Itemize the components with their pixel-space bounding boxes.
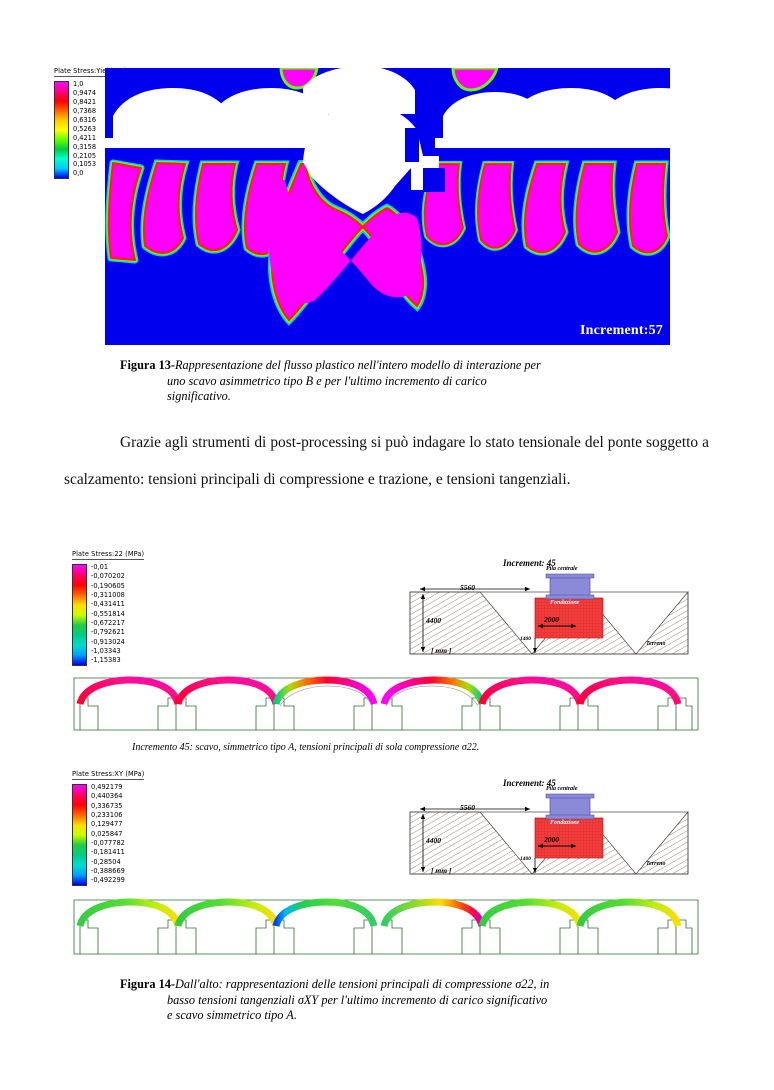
legend-tick: 0,440364 — [91, 793, 125, 800]
figure14-top-legend-labels: -0,01-0,070202-0,190605-0,311008-0,43141… — [91, 564, 125, 664]
figure14-top-legend-title: Plate Stress:22 (MPa) — [72, 550, 144, 560]
legend-tick: -0,551814 — [91, 611, 125, 618]
inset-foundation-label-top: Fondazione — [550, 600, 579, 606]
legend-tick: 0,336735 — [91, 803, 125, 810]
legend-tick: 0,1053 — [73, 161, 96, 168]
figure14-caption-line3: e scavo simmetrico tipo A. — [120, 1008, 680, 1024]
figure14-bottom-legend-title: Plate Stress:XY (MPa) — [72, 770, 144, 780]
figure13-legend-labels: 1,00,94740,84210,73680,63160,52630,42110… — [73, 81, 96, 177]
legend-tick: 0,025847 — [91, 831, 125, 838]
figure14-caption-line2: basso tensioni tangenziali σXY per l'ult… — [120, 993, 680, 1009]
figure13-colorbar — [54, 81, 69, 179]
inset-foundation-label-bottom: Fondazione — [550, 820, 579, 826]
legend-tick: 0,492179 — [91, 784, 125, 791]
figure13-fem-svg — [105, 68, 670, 345]
legend-tick: -1,15383 — [91, 657, 125, 664]
figure14-caption: Figura 14-Dall'alto: rappresentazioni de… — [120, 977, 680, 1024]
legend-tick: -0,672217 — [91, 620, 125, 627]
legend-tick: 0,7368 — [73, 108, 96, 115]
figure14-bottom-legend-labels: 0,4921790,4403640,3367350,2331060,129477… — [91, 784, 125, 884]
figure13-caption-line1: Rappresentazione del flusso plastico nel… — [175, 358, 541, 372]
legend-tick: -0,077782 — [91, 840, 125, 847]
legend-tick: 0,8421 — [73, 99, 96, 106]
legend-tick: 0,9474 — [73, 90, 96, 97]
legend-tick: 0,5263 — [73, 126, 96, 133]
figure13-caption-line3: significativo. — [120, 389, 680, 405]
legend-tick: 0,4211 — [73, 135, 96, 142]
inset-pier-label-top: Pila centrale — [546, 566, 578, 572]
figure13-caption-line2: uno scavo asimmetrico tipo B e per l'ult… — [120, 374, 680, 390]
legend-tick: 0,3158 — [73, 144, 96, 151]
legend-tick: -0,311008 — [91, 592, 125, 599]
legend-tick: 0,129477 — [91, 821, 125, 828]
legend-tick: -0,792621 — [91, 629, 125, 636]
legend-tick: -1,03343 — [91, 648, 125, 655]
figure14-bottom-legend: Plate Stress:XY (MPa) 0,4921790,4403640,… — [72, 763, 144, 886]
document-page: Plate Stress:Yield Index 1,00,94740,8421… — [0, 0, 774, 1090]
legend-tick: -0,28504 — [91, 859, 125, 866]
legend-tick: -0,913024 — [91, 639, 125, 646]
figure13-caption: Figura 13-Rappresentazione del flusso pl… — [120, 358, 680, 405]
inset-dim-2000-top: 2000 — [544, 615, 559, 624]
inset-dim-1400-bottom: 1400 — [520, 856, 531, 862]
legend-tick: 0,2105 — [73, 153, 96, 160]
inset-dim-2000-bottom: 2000 — [544, 835, 559, 844]
body-paragraph: Grazie agli strumenti di post-processing… — [64, 424, 709, 498]
legend-tick: -0,431411 — [91, 601, 125, 608]
inset-dim-4400-bottom: 4400 — [426, 836, 441, 845]
legend-tick: -0,190605 — [91, 583, 125, 590]
figure13-fem-plot: Increment:57 — [105, 68, 670, 345]
inset-dim-5560-bottom: 5560 — [460, 803, 475, 812]
figure14-bottom-bridge — [66, 892, 706, 958]
figure14-bottom-colorbar — [72, 784, 87, 886]
figure14-top-inset: Increment: 45 — [398, 558, 698, 663]
increment-label: Increment:57 — [580, 323, 663, 339]
inset-dim-5560-top: 5560 — [460, 583, 475, 592]
figure14-bottom-inset: Increment: 45 — [398, 778, 698, 883]
figure14-top-subcaption: Incremento 45: scavo, simmetrico tipo A,… — [132, 742, 479, 753]
figure14-top-bridge — [66, 672, 706, 734]
inset-pier-label-bottom: Pila centrale — [546, 786, 578, 792]
legend-tick: 0,0 — [73, 170, 96, 177]
legend-tick: -0,181411 — [91, 849, 125, 856]
legend-tick: -0,388669 — [91, 868, 125, 875]
figure14-top-colorbar — [72, 564, 87, 666]
figure14-caption-bold: Figura 14- — [120, 977, 175, 991]
figure13-caption-bold: Figura 13- — [120, 358, 175, 372]
figure14-caption-line1: Dall'alto: rappresentazioni delle tensio… — [175, 977, 549, 991]
legend-tick: -0,070202 — [91, 573, 125, 580]
inset-ground-label-bottom: Terreno — [646, 861, 665, 867]
legend-tick: 0,233106 — [91, 812, 125, 819]
legend-tick: -0,01 — [91, 564, 125, 571]
inset-ground-label-top: Terreno — [646, 641, 665, 647]
inset-dim-4400-top: 4400 — [426, 616, 441, 625]
inset-units-bottom: [ mm ] — [431, 866, 451, 875]
legend-tick: 1,0 — [73, 81, 96, 88]
figure14-top-legend: Plate Stress:22 (MPa) -0,01-0,070202-0,1… — [72, 543, 144, 666]
inset-dim-1400-top: 1400 — [520, 636, 531, 642]
legend-tick: -0,492299 — [91, 877, 125, 884]
inset-units-top: [ mm ] — [431, 646, 451, 655]
legend-tick: 0,6316 — [73, 117, 96, 124]
